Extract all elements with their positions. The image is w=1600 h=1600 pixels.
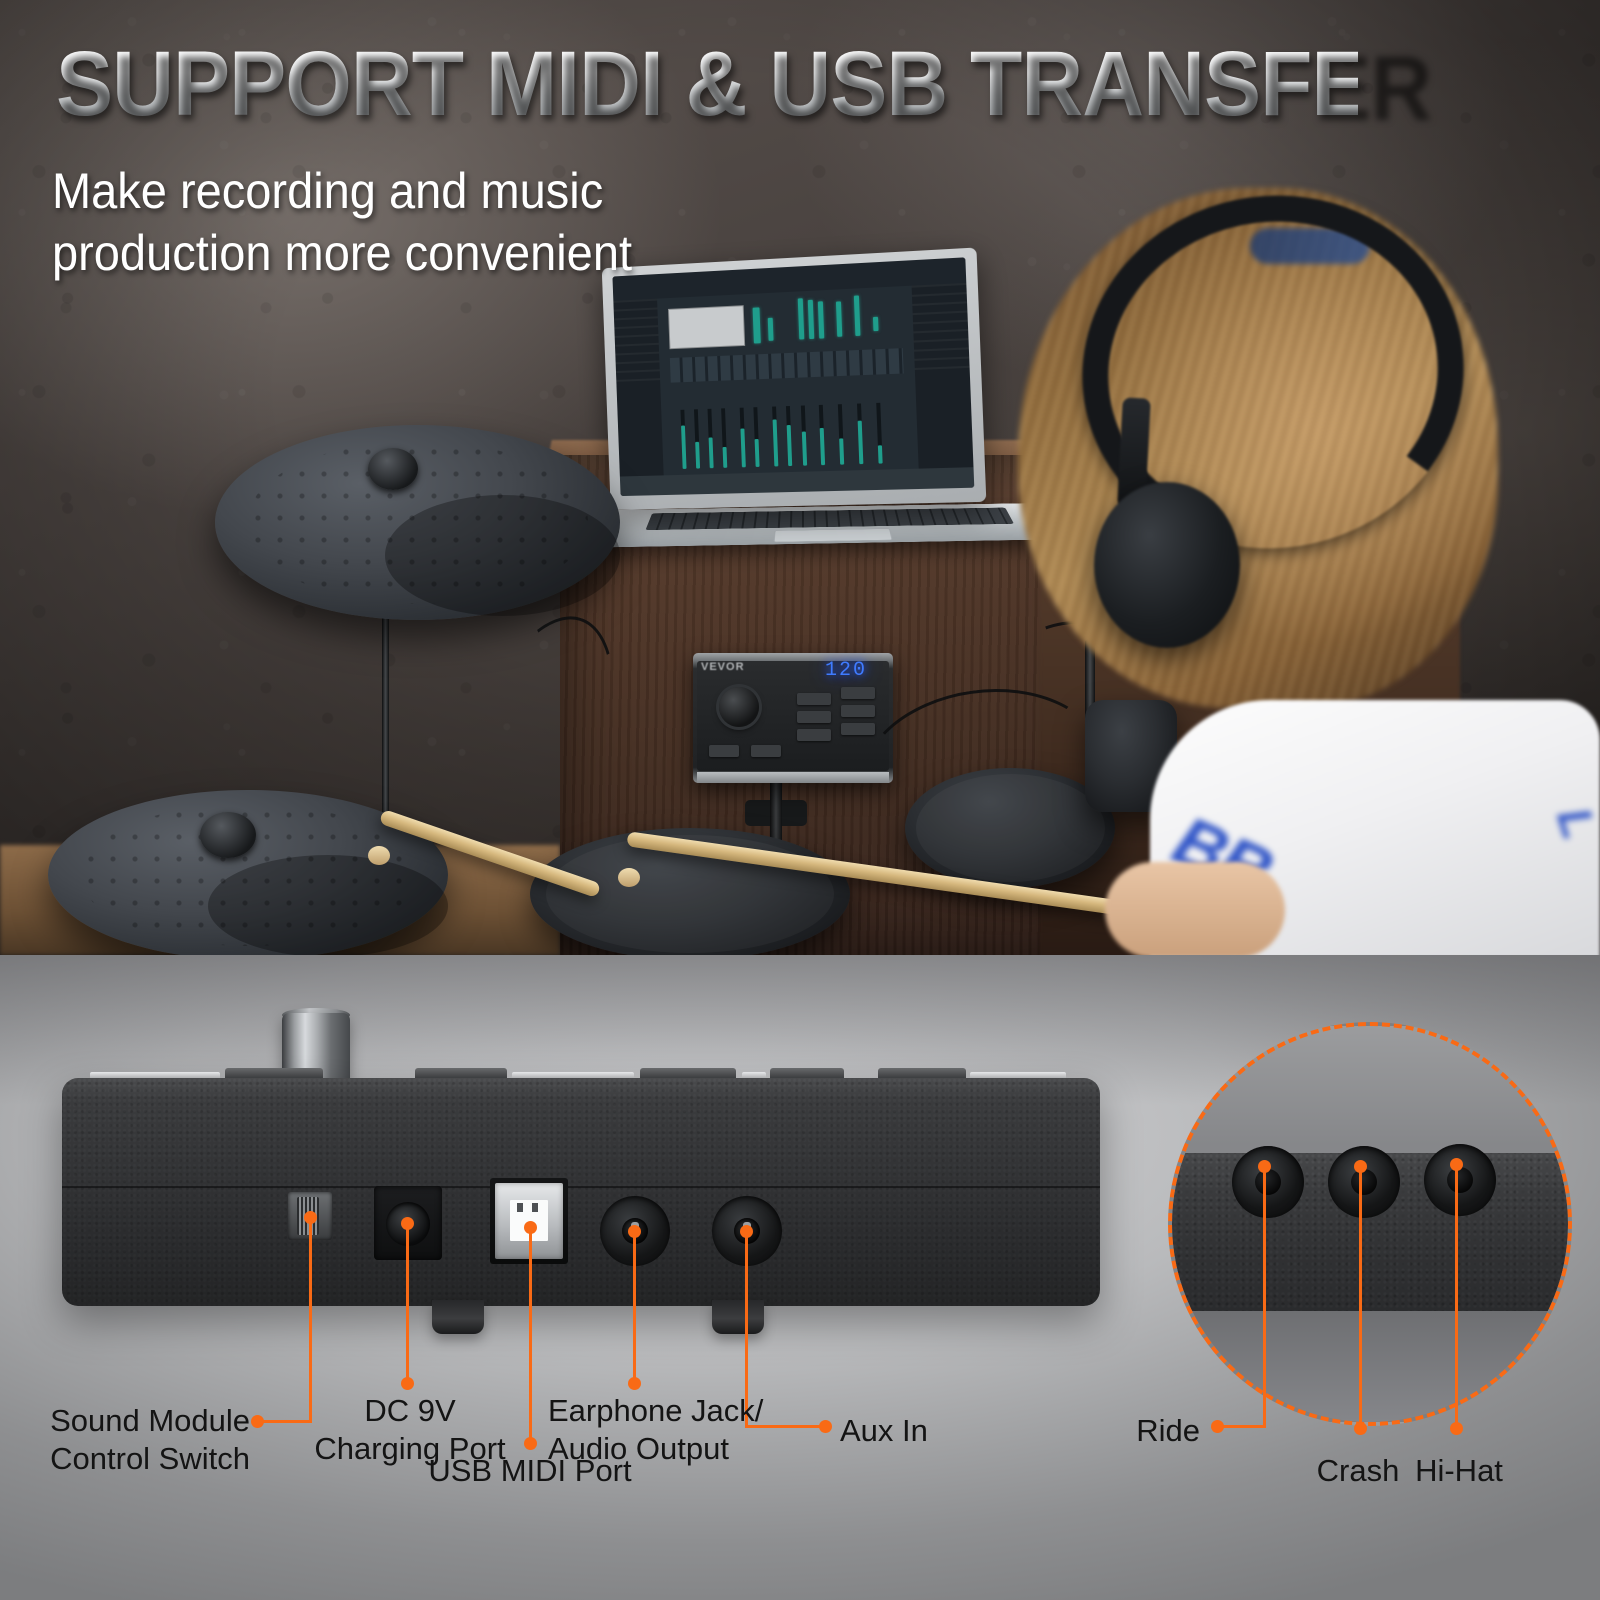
cymbal-pad-upper bbox=[215, 425, 620, 620]
cymbal-shadow bbox=[385, 495, 620, 616]
drumstick-tip-left bbox=[368, 846, 390, 865]
laptop-keyboard bbox=[645, 508, 1014, 531]
laptop-screen-daw bbox=[612, 257, 974, 496]
callout-content bbox=[1172, 1026, 1568, 1422]
module-chassis bbox=[62, 1078, 1100, 1306]
usb-pin bbox=[517, 1203, 523, 1212]
module-texture bbox=[62, 1078, 1100, 1306]
leader-line-hi-hat bbox=[1455, 1164, 1458, 1428]
module-button bbox=[709, 745, 739, 757]
lifestyle-photo-panel: VEVOR 120 bbox=[0, 0, 1600, 955]
shirt-graphic-side: L bbox=[1545, 801, 1600, 846]
laptop-lid bbox=[602, 247, 987, 509]
leader-endpoint-aux-in bbox=[819, 1420, 832, 1433]
mixer-fader bbox=[839, 439, 844, 465]
daw-inspector-panel bbox=[911, 283, 973, 469]
label-line-2: Control Switch bbox=[0, 1440, 250, 1478]
leader-line-crash bbox=[1359, 1166, 1362, 1428]
cymbal-shadow bbox=[208, 855, 448, 955]
module-button bbox=[797, 729, 831, 741]
jack-detail-callout-circle bbox=[1168, 1022, 1572, 1426]
hi-hat-jack[interactable] bbox=[1424, 1144, 1496, 1216]
sound-module-rear-view bbox=[62, 1078, 1100, 1306]
drumstick-tip-right bbox=[618, 868, 640, 887]
jack-hole bbox=[1351, 1169, 1377, 1195]
daw-clip bbox=[873, 316, 879, 331]
daw-browser-rows bbox=[613, 298, 660, 381]
product-infographic: VEVOR 120 bbox=[0, 0, 1600, 1600]
daw-plugin-window bbox=[668, 305, 746, 350]
cymbal-stand-pole bbox=[382, 580, 389, 845]
jack-hole bbox=[1255, 1169, 1281, 1195]
daw-clip bbox=[768, 318, 774, 342]
leader-endpoint-dc-9v-charging-port bbox=[401, 1377, 414, 1390]
headphone-earcup bbox=[1094, 482, 1240, 648]
label-line-1: DC 9V bbox=[250, 1392, 570, 1430]
mixer-fader bbox=[801, 431, 806, 466]
module-seam-line bbox=[62, 1186, 1100, 1188]
cymbal-wing-nut-upper bbox=[368, 448, 418, 490]
leader-line-earphone-jack-audio-output bbox=[633, 1231, 636, 1383]
subtitle-line-1: Make recording and music bbox=[52, 160, 785, 222]
page-title: SUPPORT MIDI & USB TRANSFER bbox=[56, 38, 1358, 130]
label-sound-module-control-switch: Sound Module Control Switch bbox=[0, 1402, 250, 1479]
laptop-trackpad bbox=[773, 528, 893, 542]
module-button bbox=[751, 745, 781, 757]
label-earphone-jack-audio-output: Earphone Jack/ Audio Output bbox=[548, 1392, 763, 1469]
label-line-1: Hi-Hat bbox=[1374, 1452, 1544, 1490]
subtitle-line-2: production more convenient bbox=[52, 222, 785, 284]
crash-jack[interactable] bbox=[1328, 1146, 1400, 1218]
daw-clip bbox=[854, 295, 861, 335]
leader-line-ride-h bbox=[1218, 1425, 1266, 1428]
leader-endpoint-crash bbox=[1354, 1422, 1367, 1435]
module-button bbox=[841, 705, 875, 717]
daw-clip bbox=[808, 299, 815, 339]
module-button bbox=[797, 693, 831, 705]
label-hi-hat: Hi-Hat bbox=[1374, 1452, 1544, 1490]
daw-clip bbox=[752, 308, 761, 344]
label-line-1: Ride bbox=[910, 1412, 1200, 1450]
vevor-brand-logo: VEVOR bbox=[701, 661, 745, 673]
ride-jack[interactable] bbox=[1232, 1146, 1304, 1218]
mixer-fader bbox=[695, 442, 700, 469]
tempo-led-display: 120 bbox=[825, 659, 867, 682]
mixer-fader bbox=[878, 445, 883, 464]
module-button bbox=[841, 723, 875, 735]
label-line-2: Audio Output bbox=[548, 1430, 763, 1468]
label-line-1: Sound Module bbox=[0, 1402, 250, 1440]
module-volume-knob bbox=[719, 687, 759, 727]
callout-lower-shade bbox=[1172, 1311, 1568, 1422]
page-subtitle: Make recording and music production more… bbox=[52, 160, 785, 284]
daw-arrangement bbox=[657, 285, 918, 475]
daw-mixer bbox=[671, 390, 908, 469]
label-ride: Ride bbox=[910, 1412, 1200, 1450]
cymbal-wing-nut-lower bbox=[200, 812, 256, 858]
module-foot bbox=[712, 1300, 764, 1334]
drummer-arm bbox=[1105, 862, 1285, 955]
leader-endpoint-hi-hat bbox=[1450, 1422, 1463, 1435]
module-button bbox=[841, 687, 875, 699]
leader-endpoint-ride bbox=[1211, 1420, 1224, 1433]
usb-pin bbox=[532, 1203, 538, 1212]
module-button bbox=[797, 711, 831, 723]
leader-endpoint-earphone-jack-audio-output bbox=[628, 1377, 641, 1390]
jack-hole bbox=[1447, 1167, 1473, 1193]
daw-clip bbox=[798, 298, 805, 340]
label-line-1: Earphone Jack/ bbox=[548, 1392, 763, 1430]
leader-line-dc-9v-charging-port bbox=[406, 1223, 409, 1383]
daw-inspector-rows bbox=[911, 283, 969, 370]
daw-step-grid bbox=[669, 348, 904, 383]
leader-line-ride bbox=[1263, 1166, 1266, 1428]
daw-clip bbox=[818, 301, 825, 339]
mixer-fader bbox=[681, 425, 687, 469]
daw-clip bbox=[836, 302, 842, 337]
daw-browser-panel bbox=[613, 298, 664, 476]
module-foot bbox=[432, 1300, 484, 1334]
